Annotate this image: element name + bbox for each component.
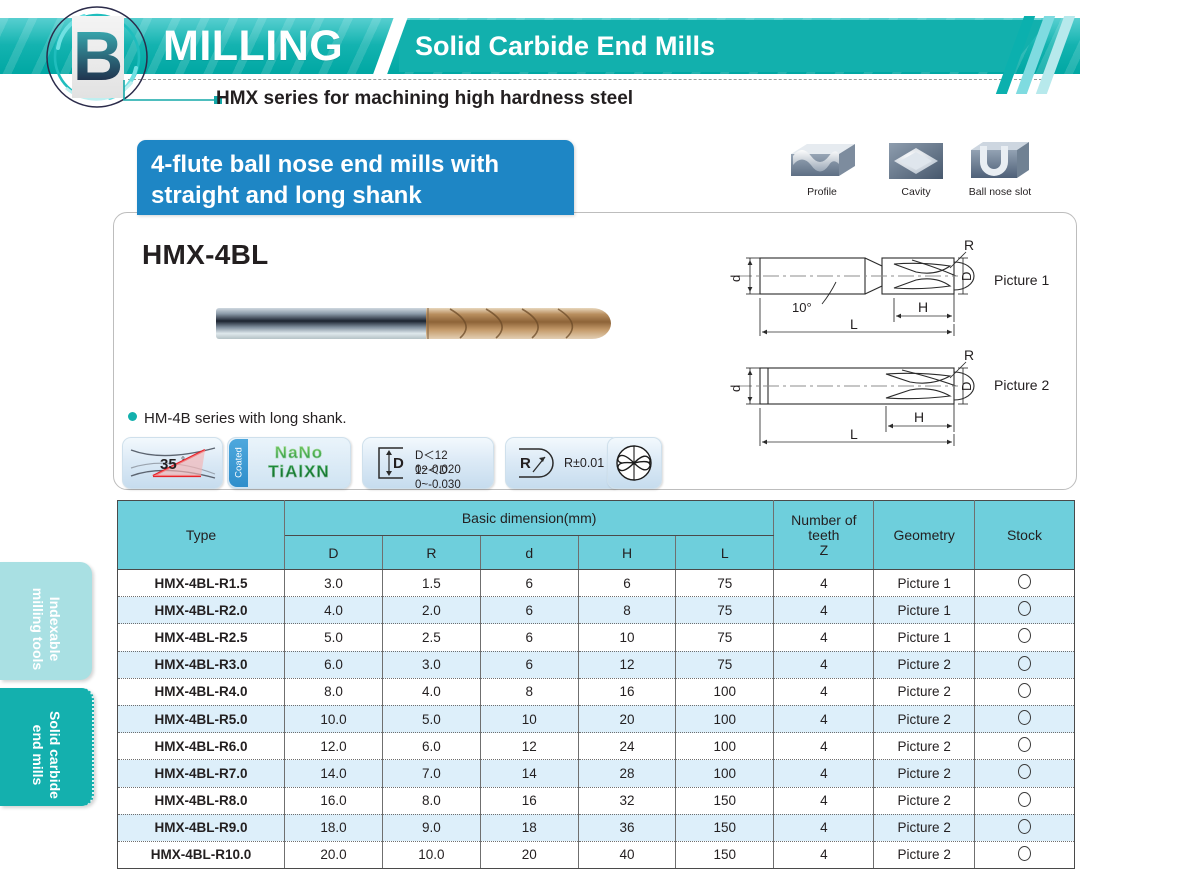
cell-stock xyxy=(974,570,1074,597)
cell-overall-length: 100 xyxy=(676,705,774,732)
cell-geometry: Picture 1 xyxy=(874,624,974,651)
cell-shank-diameter: 6 xyxy=(480,597,578,624)
cell-geometry: Picture 2 xyxy=(874,760,974,787)
application-label: Ball nose slot xyxy=(963,186,1037,198)
radius-tolerance-text: R±0.01 xyxy=(564,456,604,470)
cell-teeth: 4 xyxy=(774,651,874,678)
table-row: HMX-4BL-R2.55.02.5610754Picture 1 xyxy=(118,624,1075,651)
cell-geometry: Picture 1 xyxy=(874,570,974,597)
four-flute-end-view-icon xyxy=(608,438,661,488)
table-row: HMX-4BL-R8.016.08.016321504Picture 2 xyxy=(118,787,1075,814)
table-row: HMX-4BL-R9.018.09.018361504Picture 2 xyxy=(118,814,1075,841)
cell-radius: 3.0 xyxy=(382,651,480,678)
cell-type: HMX-4BL-R1.5 xyxy=(118,570,285,597)
cell-diameter: 18.0 xyxy=(285,814,383,841)
svg-text:D: D xyxy=(393,455,404,472)
cell-radius: 5.0 xyxy=(382,705,480,732)
svg-text:10°: 10° xyxy=(792,300,812,315)
header-stripes-decoration xyxy=(1000,16,1180,94)
cell-type: HMX-4BL-R6.0 xyxy=(118,733,285,760)
cell-overall-length: 100 xyxy=(676,760,774,787)
cell-flute-length: 16 xyxy=(578,678,676,705)
specification-table: Type Basic dimension(mm) Number of teeth… xyxy=(117,500,1075,869)
cell-type: HMX-4BL-R9.0 xyxy=(118,814,285,841)
badge-radius-tolerance: R R±0.01 xyxy=(505,437,620,489)
application-label: Profile xyxy=(785,186,859,198)
cell-flute-length: 8 xyxy=(578,597,676,624)
cell-overall-length: 75 xyxy=(676,624,774,651)
cell-teeth: 4 xyxy=(774,760,874,787)
badge-end-view xyxy=(607,437,662,489)
cell-shank-diameter: 6 xyxy=(480,651,578,678)
table-row: HMX-4BL-R3.06.03.0612754Picture 2 xyxy=(118,651,1075,678)
bullet-dot-icon xyxy=(128,412,137,421)
logo-letter: B xyxy=(72,16,124,98)
cell-geometry: Picture 2 xyxy=(874,814,974,841)
side-tab-solid-carbide-end-mills[interactable]: Solid carbideend mills xyxy=(0,688,94,806)
stock-circle-icon xyxy=(1018,683,1031,698)
cell-diameter: 8.0 xyxy=(285,678,383,705)
cell-shank-diameter: 18 xyxy=(480,814,578,841)
cell-geometry: Picture 2 xyxy=(874,841,974,868)
cell-stock xyxy=(974,624,1074,651)
svg-text:°: ° xyxy=(181,456,185,467)
svg-text:R: R xyxy=(964,237,974,253)
application-cavity: Cavity xyxy=(879,138,953,198)
stock-circle-icon xyxy=(1018,656,1031,671)
cell-teeth: 4 xyxy=(774,597,874,624)
cell-stock xyxy=(974,678,1074,705)
side-tab-label: Indexablemilling tools xyxy=(29,567,63,691)
cell-type: HMX-4BL-R2.0 xyxy=(118,597,285,624)
cell-stock xyxy=(974,760,1074,787)
application-profile: Profile xyxy=(785,138,859,198)
col-D: D xyxy=(285,536,383,570)
cell-flute-length: 28 xyxy=(578,760,676,787)
badge-diameter-tolerance: D D＜12 0~-0.020 12＜D 0~-0.030 xyxy=(362,437,494,489)
cell-overall-length: 100 xyxy=(676,678,774,705)
table-row: HMX-4BL-R4.08.04.08161004Picture 2 xyxy=(118,678,1075,705)
cell-type: HMX-4BL-R2.5 xyxy=(118,624,285,651)
cell-diameter: 12.0 xyxy=(285,733,383,760)
cell-type: HMX-4BL-R7.0 xyxy=(118,760,285,787)
col-d: d xyxy=(480,536,578,570)
svg-text:H: H xyxy=(914,409,924,425)
profile-icon xyxy=(785,138,859,184)
stock-circle-icon xyxy=(1018,737,1031,752)
svg-text:d: d xyxy=(728,385,743,392)
cell-stock xyxy=(974,841,1074,868)
cell-stock xyxy=(974,787,1074,814)
cell-shank-diameter: 6 xyxy=(480,570,578,597)
stock-circle-icon xyxy=(1018,710,1031,725)
cell-overall-length: 75 xyxy=(676,651,774,678)
table-row: HMX-4BL-R6.012.06.012241004Picture 2 xyxy=(118,733,1075,760)
cell-overall-length: 150 xyxy=(676,841,774,868)
product-title-tab: 4-flute ball nose end mills with straigh… xyxy=(137,140,574,215)
cell-shank-diameter: 12 xyxy=(480,733,578,760)
product-note: HM-4B series with long shank. xyxy=(128,410,347,427)
stock-circle-icon xyxy=(1018,628,1031,643)
cell-overall-length: 75 xyxy=(676,570,774,597)
cell-diameter: 10.0 xyxy=(285,705,383,732)
side-tab-indexable-milling-tools[interactable]: Indexablemilling tools xyxy=(0,562,92,680)
col-L: L xyxy=(676,536,774,570)
application-label: Cavity xyxy=(879,186,953,198)
col-teeth: Number of teeth Z xyxy=(774,501,874,570)
cell-diameter: 3.0 xyxy=(285,570,383,597)
col-stock: Stock xyxy=(974,501,1074,570)
technical-drawing-picture-1: d D R H L 10° xyxy=(726,236,1006,342)
cell-teeth: 4 xyxy=(774,841,874,868)
coating-name: NaNo TiAlXN xyxy=(252,443,346,481)
diameter-bracket-icon: D xyxy=(367,438,413,488)
table-row: HMX-4BL-R5.010.05.010201004Picture 2 xyxy=(118,705,1075,732)
helix-angle-icon: 35 ° xyxy=(123,438,222,488)
table-row: HMX-4BL-R10.020.010.020401504Picture 2 xyxy=(118,841,1075,868)
cell-diameter: 4.0 xyxy=(285,597,383,624)
cell-flute-length: 20 xyxy=(578,705,676,732)
cell-teeth: 4 xyxy=(774,624,874,651)
cell-diameter: 14.0 xyxy=(285,760,383,787)
stock-circle-icon xyxy=(1018,601,1031,616)
cell-overall-length: 100 xyxy=(676,733,774,760)
cell-radius: 4.0 xyxy=(382,678,480,705)
cell-type: HMX-4BL-R10.0 xyxy=(118,841,285,868)
cell-stock xyxy=(974,597,1074,624)
cell-stock xyxy=(974,651,1074,678)
cell-shank-diameter: 8 xyxy=(480,678,578,705)
radius-icon: R xyxy=(511,438,563,488)
product-code: HMX-4BL xyxy=(142,239,269,271)
header-subtitle: Solid Carbide End Mills xyxy=(415,28,715,64)
table-row: HMX-4BL-R1.53.01.566754Picture 1 xyxy=(118,570,1075,597)
stock-circle-icon xyxy=(1018,792,1031,807)
cell-flute-length: 10 xyxy=(578,624,676,651)
cell-geometry: Picture 2 xyxy=(874,787,974,814)
cell-type: HMX-4BL-R8.0 xyxy=(118,787,285,814)
tolerance-line-2: 12＜D 0~-0.030 xyxy=(415,464,493,492)
cavity-icon xyxy=(879,138,953,184)
cell-geometry: Picture 2 xyxy=(874,678,974,705)
application-ball-nose-slot: Ball nose slot xyxy=(963,138,1037,198)
cell-diameter: 16.0 xyxy=(285,787,383,814)
cell-type: HMX-4BL-R4.0 xyxy=(118,678,285,705)
svg-text:L: L xyxy=(850,426,858,442)
product-photo xyxy=(214,300,630,346)
cell-geometry: Picture 1 xyxy=(874,597,974,624)
cell-type: HMX-4BL-R5.0 xyxy=(118,705,285,732)
cell-shank-diameter: 6 xyxy=(480,624,578,651)
cell-stock xyxy=(974,733,1074,760)
svg-text:L: L xyxy=(850,316,858,332)
header-leader-line xyxy=(120,76,230,110)
cell-flute-length: 36 xyxy=(578,814,676,841)
ball-nose-slot-icon xyxy=(963,138,1037,184)
cell-teeth: 4 xyxy=(774,705,874,732)
cell-overall-length: 150 xyxy=(676,787,774,814)
cell-flute-length: 32 xyxy=(578,787,676,814)
cell-geometry: Picture 2 xyxy=(874,733,974,760)
badge-helix-angle: 35 ° xyxy=(122,437,223,489)
application-icons: Profile Cavity xyxy=(785,138,1065,206)
cell-teeth: 4 xyxy=(774,678,874,705)
cell-flute-length: 12 xyxy=(578,651,676,678)
cell-flute-length: 24 xyxy=(578,733,676,760)
cell-radius: 6.0 xyxy=(382,733,480,760)
svg-text:D: D xyxy=(959,382,974,391)
technical-drawing-picture-2: d D R H L xyxy=(726,344,1006,454)
svg-text:D: D xyxy=(959,272,974,281)
col-H: H xyxy=(578,536,676,570)
cell-radius: 1.5 xyxy=(382,570,480,597)
cell-teeth: 4 xyxy=(774,787,874,814)
cell-geometry: Picture 2 xyxy=(874,651,974,678)
table-body: HMX-4BL-R1.53.01.566754Picture 1HMX-4BL-… xyxy=(118,570,1075,869)
col-geometry: Geometry xyxy=(874,501,974,570)
coated-strip: Coated xyxy=(229,439,248,487)
stock-circle-icon xyxy=(1018,574,1031,589)
cell-shank-diameter: 20 xyxy=(480,841,578,868)
cell-radius: 2.0 xyxy=(382,597,480,624)
header-note: HMX series for machining high hardness s… xyxy=(216,88,633,110)
picture-1-label: Picture 1 xyxy=(994,272,1049,288)
coated-label: Coated xyxy=(234,441,245,485)
cell-overall-length: 150 xyxy=(676,814,774,841)
col-type: Type xyxy=(118,501,285,570)
svg-text:R: R xyxy=(520,455,531,472)
picture-2-label: Picture 2 xyxy=(994,377,1049,393)
cell-shank-diameter: 10 xyxy=(480,705,578,732)
cell-shank-diameter: 14 xyxy=(480,760,578,787)
cell-diameter: 20.0 xyxy=(285,841,383,868)
badge-coating: Coated NaNo TiAlXN xyxy=(227,437,351,489)
cell-shank-diameter: 16 xyxy=(480,787,578,814)
cell-radius: 9.0 xyxy=(382,814,480,841)
cell-diameter: 6.0 xyxy=(285,651,383,678)
svg-text:R: R xyxy=(964,347,974,363)
stock-circle-icon xyxy=(1018,764,1031,779)
table-row: HMX-4BL-R2.04.02.068754Picture 1 xyxy=(118,597,1075,624)
cell-diameter: 5.0 xyxy=(285,624,383,651)
cell-radius: 8.0 xyxy=(382,787,480,814)
cell-stock xyxy=(974,705,1074,732)
cell-flute-length: 40 xyxy=(578,841,676,868)
svg-text:35: 35 xyxy=(160,456,177,473)
table-header: Type Basic dimension(mm) Number of teeth… xyxy=(118,501,1075,570)
header-dashed-rule xyxy=(128,79,1052,80)
stock-circle-icon xyxy=(1018,846,1031,861)
cell-flute-length: 6 xyxy=(578,570,676,597)
cell-radius: 7.0 xyxy=(382,760,480,787)
cell-teeth: 4 xyxy=(774,733,874,760)
cell-radius: 2.5 xyxy=(382,624,480,651)
col-R: R xyxy=(382,536,480,570)
side-tab-label: Solid carbideend mills xyxy=(29,693,63,817)
cell-teeth: 4 xyxy=(774,814,874,841)
product-title-text: 4-flute ball nose end mills with straigh… xyxy=(151,149,566,211)
cell-overall-length: 75 xyxy=(676,597,774,624)
cell-radius: 10.0 xyxy=(382,841,480,868)
table-row: HMX-4BL-R7.014.07.014281004Picture 2 xyxy=(118,760,1075,787)
cell-stock xyxy=(974,814,1074,841)
cell-type: HMX-4BL-R3.0 xyxy=(118,651,285,678)
svg-text:d: d xyxy=(728,275,743,282)
cell-geometry: Picture 2 xyxy=(874,705,974,732)
svg-text:H: H xyxy=(918,299,928,315)
col-group-basic-dimension: Basic dimension(mm) xyxy=(285,501,774,536)
stock-circle-icon xyxy=(1018,819,1031,834)
header-title: MILLING xyxy=(163,22,343,70)
cell-teeth: 4 xyxy=(774,570,874,597)
